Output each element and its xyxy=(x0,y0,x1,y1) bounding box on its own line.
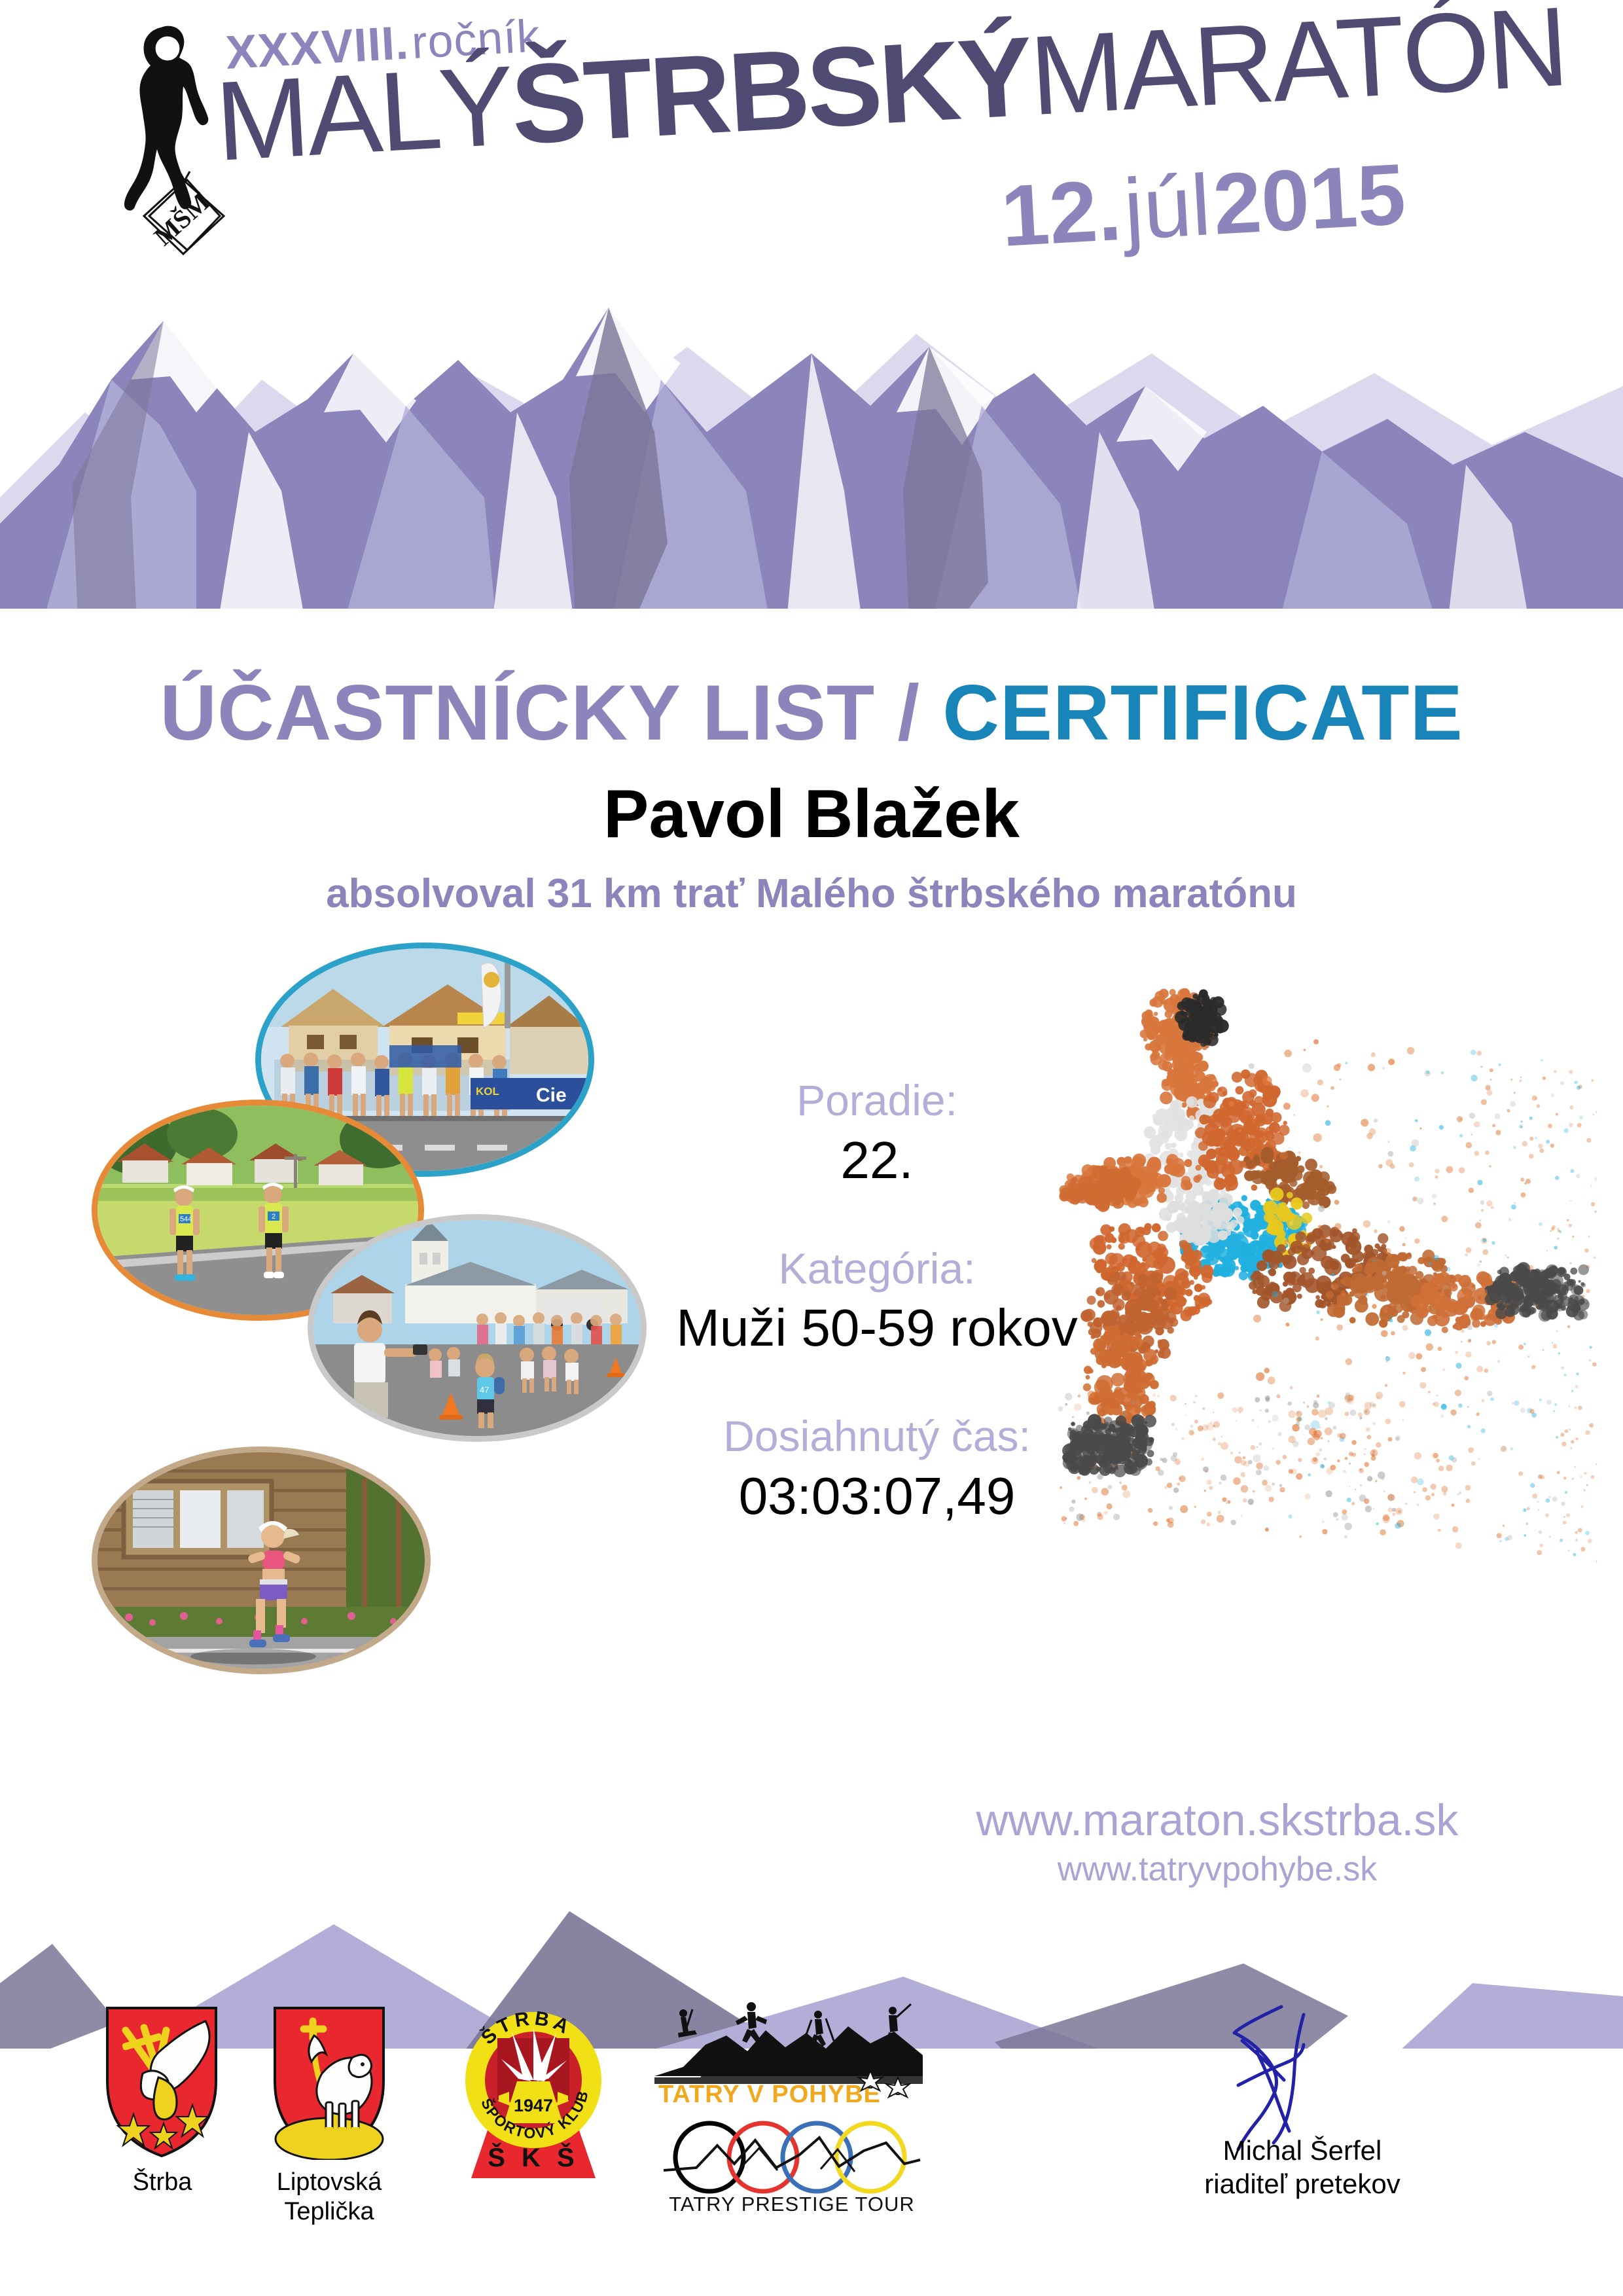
certificate-page: MŠM XXXVIII. ročník MALÝŠTRBSKÝMARATÓN 1… xyxy=(0,0,1623,2296)
crest-strba-label: Štrba xyxy=(84,2168,241,2197)
signature-name: Michal Šerfel xyxy=(1119,2134,1486,2167)
participant-subtitle: absolvoval 31 km trať Malého štrbského m… xyxy=(0,870,1623,917)
crest-label-line1: Liptovská xyxy=(277,2168,382,2196)
title-maly: MALÝ xyxy=(213,43,515,185)
tatry-title: TATRY V POHYBE xyxy=(658,2081,881,2108)
secondary-url[interactable]: www.tatryvpohybe.sk xyxy=(851,1848,1584,1892)
crest-strba xyxy=(103,2004,220,2160)
photo-woman-runner xyxy=(92,1446,431,1674)
website-links: www.maraton.skstrba.sk www.tatryvpohybe.… xyxy=(851,1793,1584,1892)
title-strbsky: ŠTRBSKÝ xyxy=(508,14,1033,168)
svg-text:47: 47 xyxy=(480,1385,489,1395)
tatry-prestige-tour-logo: TATRY PRESTIGE TOUR xyxy=(661,2114,923,2219)
primary-url[interactable]: www.maraton.skstrba.sk xyxy=(851,1793,1584,1848)
photo-kids-race: 47 xyxy=(308,1214,647,1442)
particle-runner-graphic xyxy=(982,962,1597,1761)
signature-block: Michal Šerfel riaditeľ pretekov xyxy=(1119,2003,1486,2200)
crest-liptovska-teplicka-label: Liptovská Teplička xyxy=(242,2168,416,2227)
mountain-banner-top xyxy=(0,216,1623,635)
prestige-title: TATRY PRESTIGE TOUR xyxy=(669,2193,915,2215)
page-title-sk: ÚČASTNÍCKY LIST xyxy=(160,669,875,757)
page-title-separator: / xyxy=(875,669,942,757)
signature-role: riaditeľ pretekov xyxy=(1119,2167,1486,2200)
participant-name: Pavol Blažek xyxy=(0,776,1623,853)
tatry-v-pohybe-logo: TATRY V POHYBE xyxy=(654,1999,923,2110)
crest-liptovska-teplicka xyxy=(271,2004,387,2160)
svg-text:2: 2 xyxy=(272,1213,276,1221)
page-title-en: CERTIFICATE xyxy=(942,669,1463,757)
svg-text:Cie: Cie xyxy=(536,1085,567,1106)
svg-text:KOL: KOL xyxy=(476,1085,499,1098)
page-title: ÚČASTNÍCKY LIST / CERTIFICATE xyxy=(0,668,1623,758)
club-abbrev: Š K Š xyxy=(488,2142,579,2172)
club-year: 1947 xyxy=(514,2096,553,2115)
title-maraton: MARATÓN xyxy=(1027,0,1569,139)
footer: Štrba Liptov xyxy=(0,1996,1623,2296)
crest-label-line2: Teplička xyxy=(284,2198,374,2225)
svg-text:544: 544 xyxy=(180,1215,192,1223)
sks-club-logo: ŠTRBA ŠPORTOVÝ KLUB 1947 Š K Š xyxy=(458,2001,609,2183)
photo-collage: Cie KOL xyxy=(92,942,661,1833)
